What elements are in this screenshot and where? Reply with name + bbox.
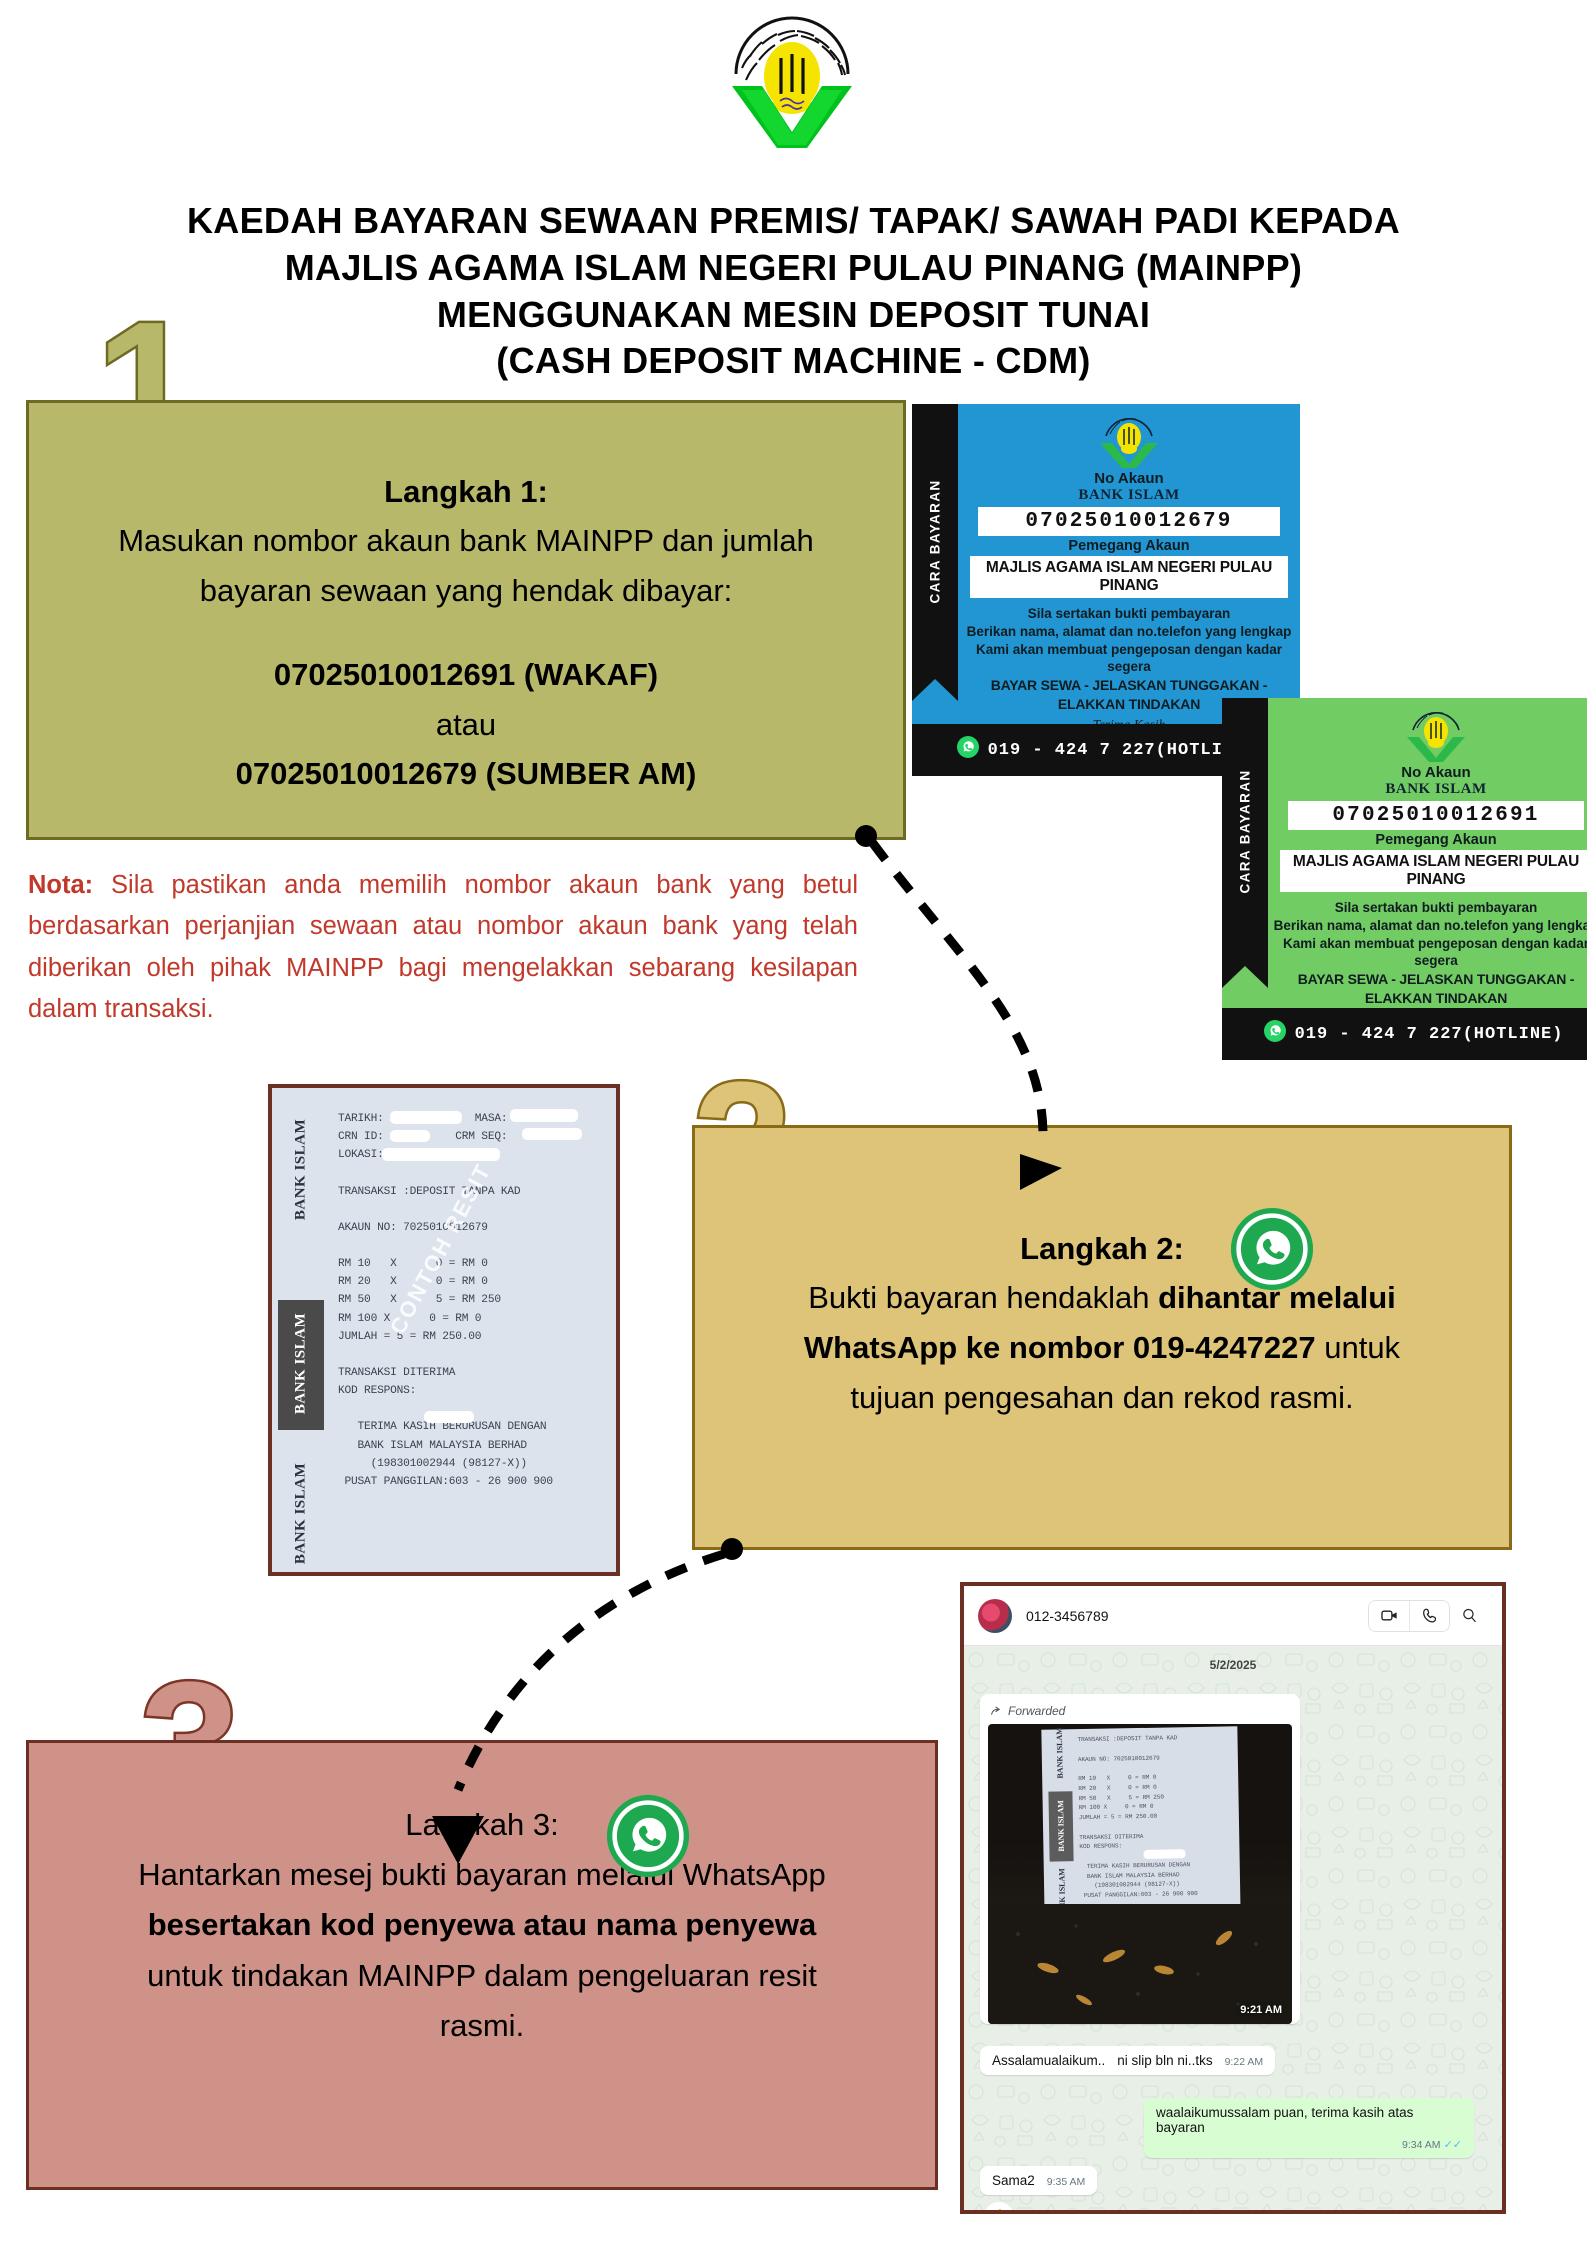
receipt-redactions <box>272 1088 616 1572</box>
step-2-text-c: tujuan pengesahan dan rekod rasmi. <box>700 1373 1504 1423</box>
slip-redaction <box>1041 1726 1240 1921</box>
chat-date-divider: 5/2/2025 <box>964 1646 1502 1672</box>
message-text: Sama2 <box>992 2173 1035 2188</box>
step-1-heading: Langkah 1: <box>26 468 906 516</box>
card-bank-name-green: BANK ISLAM <box>1268 781 1587 798</box>
message-time: 9:35 AM <box>1047 2176 1086 2188</box>
card-pemegang-label-blue: Pemegang Akaun <box>958 538 1300 554</box>
step-1-accounts: 07025010012691 (WAKAF) atau 070250100126… <box>26 650 906 799</box>
card-account-holder-green: MAJLIS AGAMA ISLAM NEGERI PULAU PINANG <box>1280 850 1587 892</box>
step-1-body-line-2: bayaran sewaan yang hendak dibayar: <box>26 566 906 616</box>
photo-timestamp: 9:21 AM <box>1240 2004 1282 2016</box>
title-line-1: KAEDAH BAYARAN SEWAAN PREMIS/ TAPAK/ SAW… <box>50 198 1537 245</box>
message-text-2: ni slip bln ni..tks <box>1117 2053 1212 2068</box>
card-bank-name-blue: BANK ISLAM <box>958 487 1300 504</box>
step-3-text-c: rasmi. <box>30 2001 934 2051</box>
card-no-akaun-label-blue: No Akaun <box>958 470 1300 487</box>
video-call-icon[interactable] <box>1369 1601 1409 1631</box>
whatsapp-icon <box>1263 1019 1287 1049</box>
voice-call-icon[interactable] <box>1409 1601 1449 1631</box>
forwarded-label: Forwarded <box>988 1702 1292 1724</box>
whatsapp-icon <box>956 735 980 765</box>
step-2-text-a: Bukti bayaran hendaklah <box>808 1280 1158 1315</box>
step-3-text: Langkah 3: Hantarkan mesej bukti bayaran… <box>30 1800 934 2051</box>
card-account-holder-blue: MAJLIS AGAMA ISLAM NEGERI PULAU PINANG <box>970 556 1288 598</box>
cara-bayaran-card-green: CARA BAYARAN No Akaun BANK ISLAM 0702501… <box>1222 698 1587 1060</box>
card-line3-green: Kami akan membuat pengeposan dengan kada… <box>1268 935 1587 971</box>
step-3-heading: Langkah 3: <box>30 1800 934 1850</box>
whatsapp-icon <box>604 1792 692 1880</box>
nota-text: Nota: Sila pastikan anda memilih nombor … <box>28 865 858 1030</box>
receipt-photo: BANK ISLAM BANK ISLAM BANK ISLAM TARIKH:… <box>268 1084 620 1576</box>
nota-body: Sila pastikan anda memilih nombor akaun … <box>28 871 858 1023</box>
step-3-text-b: untuk tindakan MAINPP dalam pengeluaran … <box>30 1951 934 2001</box>
connector-path-1 <box>872 842 1043 1140</box>
message-text: Assalamualaikum.. <box>992 2053 1105 2068</box>
title-line-2: MAJLIS AGAMA ISLAM NEGERI PULAU PINANG (… <box>50 245 1537 292</box>
account-number-sumber-am: 07025010012679 (SUMBER AM) <box>26 749 906 799</box>
step-1-text: Langkah 1: Masukan nombor akaun bank MAI… <box>26 468 906 616</box>
step-3-text-a: Hantarkan mesej bukti bayaran melalui Wh… <box>30 1850 934 1900</box>
card-pemegang-label-green: Pemegang Akaun <box>1268 832 1587 848</box>
message-text: waalaikumussalam puan, terima kasih atas… <box>1156 2105 1413 2135</box>
whatsapp-icon <box>1228 1205 1316 1293</box>
message-time: 9:34 AM✓✓ <box>1156 2138 1462 2151</box>
card-hotline-number-green: 019 - 424 7 227(HOTLINE) <box>1295 1025 1564 1044</box>
read-receipt-icon: ✓✓ <box>1444 2139 1462 2151</box>
card-ribbon-green: CARA BAYARAN <box>1222 698 1268 966</box>
card-no-akaun-label-green: No Akaun <box>1268 764 1587 781</box>
account-number-wakaf: 07025010012691 (WAKAF) <box>26 650 906 700</box>
search-icon[interactable] <box>1450 1601 1488 1631</box>
title-line-4: (CASH DEPOSIT MACHINE - CDM) <box>50 338 1537 385</box>
card-line4-green: BAYAR SEWA - JELASKAN TUNGGAKAN - ELAKKA… <box>1268 970 1587 1007</box>
nota-label: Nota: <box>28 871 93 899</box>
title-line-3: MENGGUNAKAN MESIN DEPOSIT TUNAI <box>50 292 1537 339</box>
infographic-page: KAEDAH BAYARAN SEWAAN PREMIS/ TAPAK/ SAW… <box>0 0 1587 2245</box>
mainpp-logo <box>702 8 882 148</box>
whatsapp-chat-screenshot: 012-3456789 <box>960 1582 1506 2214</box>
card-ribbon-label-green: CARA BAYARAN <box>1238 770 1253 894</box>
message-time: 9:22 AM <box>1225 2056 1264 2068</box>
avatar <box>978 1599 1012 1633</box>
card-account-number-green: 07025010012691 <box>1288 801 1584 830</box>
account-separator: atau <box>26 700 906 750</box>
step-2-heading: Langkah 2: <box>700 1225 1504 1273</box>
chat-photo-message[interactable]: Forwarded BANK ISLAM BANK ISLAM BANK ISL… <box>980 1694 1300 2024</box>
card-account-number-blue: 07025010012679 <box>978 507 1280 536</box>
whatsapp-contact-name: 012-3456789 <box>1026 1608 1354 1624</box>
slip-image: BANK ISLAM BANK ISLAM BANK ISLAM TRANSAK… <box>1041 1726 1240 1921</box>
card-logo-green <box>1403 706 1469 762</box>
card-line2-green: Berikan nama, alamat dan no.telefon yang… <box>1268 917 1587 935</box>
card-hotline-number-blue: 019 - 424 7 227(HOTLINE) <box>988 741 1257 760</box>
page-title: KAEDAH BAYARAN SEWAAN PREMIS/ TAPAK/ SAW… <box>50 198 1537 385</box>
step-2-text-bold-b: WhatsApp ke nombor 019-4247227 <box>804 1330 1316 1365</box>
receipt-photo-thumbnail: BANK ISLAM BANK ISLAM BANK ISLAM TRANSAK… <box>988 1724 1292 2024</box>
card-line3-blue: Kami akan membuat pengeposan dengan kada… <box>958 641 1300 677</box>
whatsapp-conversation: 5/2/2025 Forwarded BANK ISLAM BANK ISLAM… <box>964 1646 1502 2214</box>
card-line1-green: Sila sertakan bukti pembayaran <box>1268 899 1587 917</box>
card-logo-blue <box>1096 412 1162 468</box>
step-2-text: Langkah 2: Bukti bayaran hendaklah dihan… <box>700 1225 1504 1424</box>
card-hotline-green: 019 - 424 7 227(HOTLINE) <box>1222 1008 1587 1060</box>
step-3-text-bold: besertakan kod penyewa atau nama penyewa <box>148 1907 817 1942</box>
chat-message-incoming[interactable]: Sama2 9:35 AM <box>980 2166 1097 2195</box>
whatsapp-header: 012-3456789 <box>964 1586 1502 1646</box>
card-ribbon-label-blue: CARA BAYARAN <box>928 480 943 604</box>
step-1-body-line-1: Masukan nombor akaun bank MAINPP dan jum… <box>26 516 906 566</box>
card-line1-blue: Sila sertakan bukti pembayaran <box>958 605 1300 623</box>
chat-message-incoming[interactable]: Assalamualaikum.. ni slip bln ni..tks 9:… <box>980 2046 1275 2075</box>
step-2-text-b: untuk <box>1316 1330 1400 1365</box>
chat-message-outgoing[interactable]: waalaikumussalam puan, terima kasih atas… <box>1144 2098 1474 2158</box>
card-ribbon-blue: CARA BAYARAN <box>912 404 958 679</box>
card-line2-blue: Berikan nama, alamat dan no.telefon yang… <box>958 623 1300 641</box>
